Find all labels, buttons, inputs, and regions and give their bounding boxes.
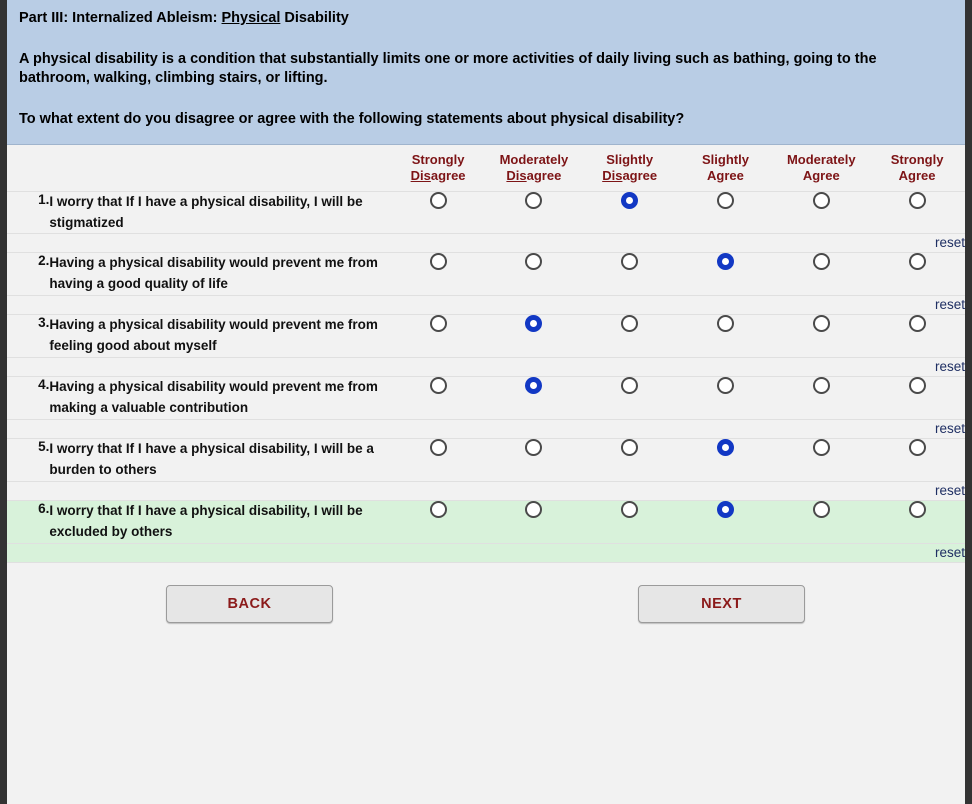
radio-cell[interactable]	[390, 377, 486, 420]
scale-header-plain-fragment: agree	[431, 168, 466, 183]
question-text: Having a physical disability would preve…	[49, 315, 390, 358]
scale-header-plain-fragment: agree	[622, 168, 657, 183]
scale-header-line2: Disagree	[584, 168, 676, 184]
reset-cell: reset	[7, 543, 965, 562]
radio-cell[interactable]	[582, 315, 678, 358]
reset-link[interactable]: reset	[935, 421, 965, 436]
part-title-prefix: Part III: Internalized Ableism:	[19, 10, 222, 26]
radio-cell[interactable]	[869, 377, 965, 420]
radio-unselected-icon[interactable]	[525, 253, 542, 270]
radio-selected-icon[interactable]	[621, 192, 638, 209]
radio-unselected-icon[interactable]	[813, 192, 830, 209]
radio-cell[interactable]	[486, 315, 582, 358]
radio-cell[interactable]	[678, 191, 774, 234]
reset-row: reset	[7, 543, 965, 562]
reset-link[interactable]: reset	[935, 297, 965, 312]
reset-cell: reset	[7, 358, 965, 377]
radio-selected-icon[interactable]	[525, 315, 542, 332]
radio-unselected-icon[interactable]	[621, 377, 638, 394]
question-text: I worry that If I have a physical disabi…	[49, 191, 390, 234]
radio-unselected-icon[interactable]	[813, 439, 830, 456]
radio-cell[interactable]	[773, 191, 869, 234]
question-row: 2.Having a physical disability would pre…	[7, 253, 965, 296]
scale-header-underlined-fragment: Dis	[602, 168, 622, 183]
radio-cell[interactable]	[773, 439, 869, 482]
reset-row: reset	[7, 420, 965, 439]
scale-header-line2: Agree	[680, 168, 772, 184]
radio-unselected-icon[interactable]	[525, 439, 542, 456]
radio-unselected-icon[interactable]	[909, 501, 926, 518]
scale-header-underlined-fragment: Dis	[411, 168, 431, 183]
part-title: Part III: Internalized Ableism: Physical…	[19, 9, 949, 29]
radio-cell[interactable]	[773, 253, 869, 296]
question-number: 2.	[7, 253, 49, 296]
radio-cell[interactable]	[678, 253, 774, 296]
question-number: 4.	[7, 377, 49, 420]
radio-selected-icon[interactable]	[717, 253, 734, 270]
question-row: 4.Having a physical disability would pre…	[7, 377, 965, 420]
disability-definition: A physical disability is a condition tha…	[19, 50, 949, 89]
scale-header-line1: Strongly	[871, 152, 963, 168]
scale-header-slightly-agree: SlightlyAgree	[678, 145, 774, 191]
radio-unselected-icon[interactable]	[909, 315, 926, 332]
scale-header-slightly-disagree: SlightlyDisagree	[582, 145, 678, 191]
question-number: 6.	[7, 500, 49, 543]
radio-cell[interactable]	[582, 377, 678, 420]
scale-header-plain-fragment: Agree	[803, 168, 840, 183]
question-number: 3.	[7, 315, 49, 358]
scale-header-plain-fragment: agree	[527, 168, 562, 183]
reset-cell: reset	[7, 420, 965, 439]
scale-header-plain-fragment: Agree	[899, 168, 936, 183]
radio-cell[interactable]	[869, 191, 965, 234]
scale-header-moderately-agree: ModeratelyAgree	[773, 145, 869, 191]
scale-header-line2: Agree	[775, 168, 867, 184]
likert-matrix-body: 1.I worry that If I have a physical disa…	[7, 191, 965, 562]
radio-cell[interactable]	[390, 315, 486, 358]
radio-cell[interactable]	[390, 253, 486, 296]
radio-cell[interactable]	[869, 500, 965, 543]
scale-header-underlined-fragment: Dis	[506, 168, 526, 183]
survey-prompt: To what extent do you disagree or agree …	[19, 110, 949, 130]
reset-row: reset	[7, 481, 965, 500]
next-button[interactable]: NEXT	[638, 585, 805, 623]
question-number: 1.	[7, 191, 49, 234]
radio-unselected-icon[interactable]	[909, 192, 926, 209]
radio-unselected-icon[interactable]	[430, 192, 447, 209]
question-text: Having a physical disability would preve…	[49, 253, 390, 296]
scale-header-line1: Slightly	[584, 152, 676, 168]
radio-cell[interactable]	[390, 191, 486, 234]
radio-cell[interactable]	[582, 439, 678, 482]
reset-row: reset	[7, 234, 965, 253]
scale-header-moderately-disagree: ModeratelyDisagree	[486, 145, 582, 191]
scale-header-strongly-disagree: StronglyDisagree	[390, 145, 486, 191]
header-spacer-statement	[49, 145, 390, 191]
radio-cell[interactable]	[678, 500, 774, 543]
question-text: Having a physical disability would preve…	[49, 377, 390, 420]
radio-unselected-icon[interactable]	[430, 377, 447, 394]
radio-cell[interactable]	[869, 439, 965, 482]
question-text: I worry that If I have a physical disabi…	[49, 439, 390, 482]
scale-header-line1: Slightly	[680, 152, 772, 168]
scale-header-line1: Strongly	[392, 152, 484, 168]
radio-cell[interactable]	[869, 253, 965, 296]
reset-link[interactable]: reset	[935, 545, 965, 560]
radio-cell[interactable]	[773, 377, 869, 420]
radio-cell[interactable]	[773, 315, 869, 358]
survey-footer: BACK NEXT	[7, 563, 965, 651]
radio-cell[interactable]	[486, 191, 582, 234]
part-title-suffix: Disability	[280, 10, 349, 26]
radio-selected-icon[interactable]	[525, 377, 542, 394]
radio-unselected-icon[interactable]	[621, 315, 638, 332]
likert-matrix-table: StronglyDisagree ModeratelyDisagree Slig…	[7, 145, 965, 563]
radio-selected-icon[interactable]	[717, 501, 734, 518]
radio-unselected-icon[interactable]	[717, 377, 734, 394]
scale-header-row: StronglyDisagree ModeratelyDisagree Slig…	[7, 145, 965, 191]
radio-cell[interactable]	[773, 500, 869, 543]
radio-unselected-icon[interactable]	[430, 501, 447, 518]
reset-cell: reset	[7, 234, 965, 253]
radio-cell[interactable]	[582, 500, 678, 543]
radio-cell[interactable]	[678, 377, 774, 420]
scale-header-plain-fragment: Agree	[707, 168, 744, 183]
radio-cell[interactable]	[486, 253, 582, 296]
radio-unselected-icon[interactable]	[430, 253, 447, 270]
radio-unselected-icon[interactable]	[909, 377, 926, 394]
radio-unselected-icon[interactable]	[621, 439, 638, 456]
radio-unselected-icon[interactable]	[813, 501, 830, 518]
radio-cell[interactable]	[582, 191, 678, 234]
radio-unselected-icon[interactable]	[430, 439, 447, 456]
reset-row: reset	[7, 296, 965, 315]
scale-header-line2: Agree	[871, 168, 963, 184]
radio-unselected-icon[interactable]	[717, 192, 734, 209]
back-button[interactable]: BACK	[166, 585, 333, 623]
radio-unselected-icon[interactable]	[813, 315, 830, 332]
radio-cell[interactable]	[486, 439, 582, 482]
survey-page: Part III: Internalized Ableism: Physical…	[0, 0, 972, 804]
question-row: 6.I worry that If I have a physical disa…	[7, 500, 965, 543]
radio-unselected-icon[interactable]	[813, 253, 830, 270]
radio-cell[interactable]	[390, 500, 486, 543]
radio-unselected-icon[interactable]	[813, 377, 830, 394]
scale-header-line2: Disagree	[488, 168, 580, 184]
radio-unselected-icon[interactable]	[909, 439, 926, 456]
radio-selected-icon[interactable]	[717, 439, 734, 456]
scale-header-strongly-agree: StronglyAgree	[869, 145, 965, 191]
reset-cell: reset	[7, 296, 965, 315]
question-row: 5.I worry that If I have a physical disa…	[7, 439, 965, 482]
question-number: 5.	[7, 439, 49, 482]
radio-unselected-icon[interactable]	[717, 315, 734, 332]
radio-cell[interactable]	[678, 439, 774, 482]
scale-header-line2: Disagree	[392, 168, 484, 184]
reset-link[interactable]: reset	[935, 235, 965, 250]
reset-row: reset	[7, 358, 965, 377]
radio-unselected-icon[interactable]	[621, 501, 638, 518]
reset-cell: reset	[7, 481, 965, 500]
reset-link[interactable]: reset	[935, 359, 965, 374]
reset-link[interactable]: reset	[935, 483, 965, 498]
radio-cell[interactable]	[486, 500, 582, 543]
header-spacer-number	[7, 145, 49, 191]
radio-cell[interactable]	[390, 439, 486, 482]
radio-cell[interactable]	[869, 315, 965, 358]
scale-header-line1: Moderately	[775, 152, 867, 168]
survey-intro-block: Part III: Internalized Ableism: Physical…	[7, 0, 965, 145]
question-row: 1.I worry that If I have a physical disa…	[7, 191, 965, 234]
radio-cell[interactable]	[582, 253, 678, 296]
radio-unselected-icon[interactable]	[621, 253, 638, 270]
part-title-underlined-word: Physical	[222, 10, 281, 26]
question-text: I worry that If I have a physical disabi…	[49, 500, 390, 543]
radio-unselected-icon[interactable]	[525, 192, 542, 209]
radio-unselected-icon[interactable]	[430, 315, 447, 332]
radio-cell[interactable]	[678, 315, 774, 358]
radio-unselected-icon[interactable]	[909, 253, 926, 270]
scale-header-line1: Moderately	[488, 152, 580, 168]
radio-unselected-icon[interactable]	[525, 501, 542, 518]
question-row: 3.Having a physical disability would pre…	[7, 315, 965, 358]
radio-cell[interactable]	[486, 377, 582, 420]
